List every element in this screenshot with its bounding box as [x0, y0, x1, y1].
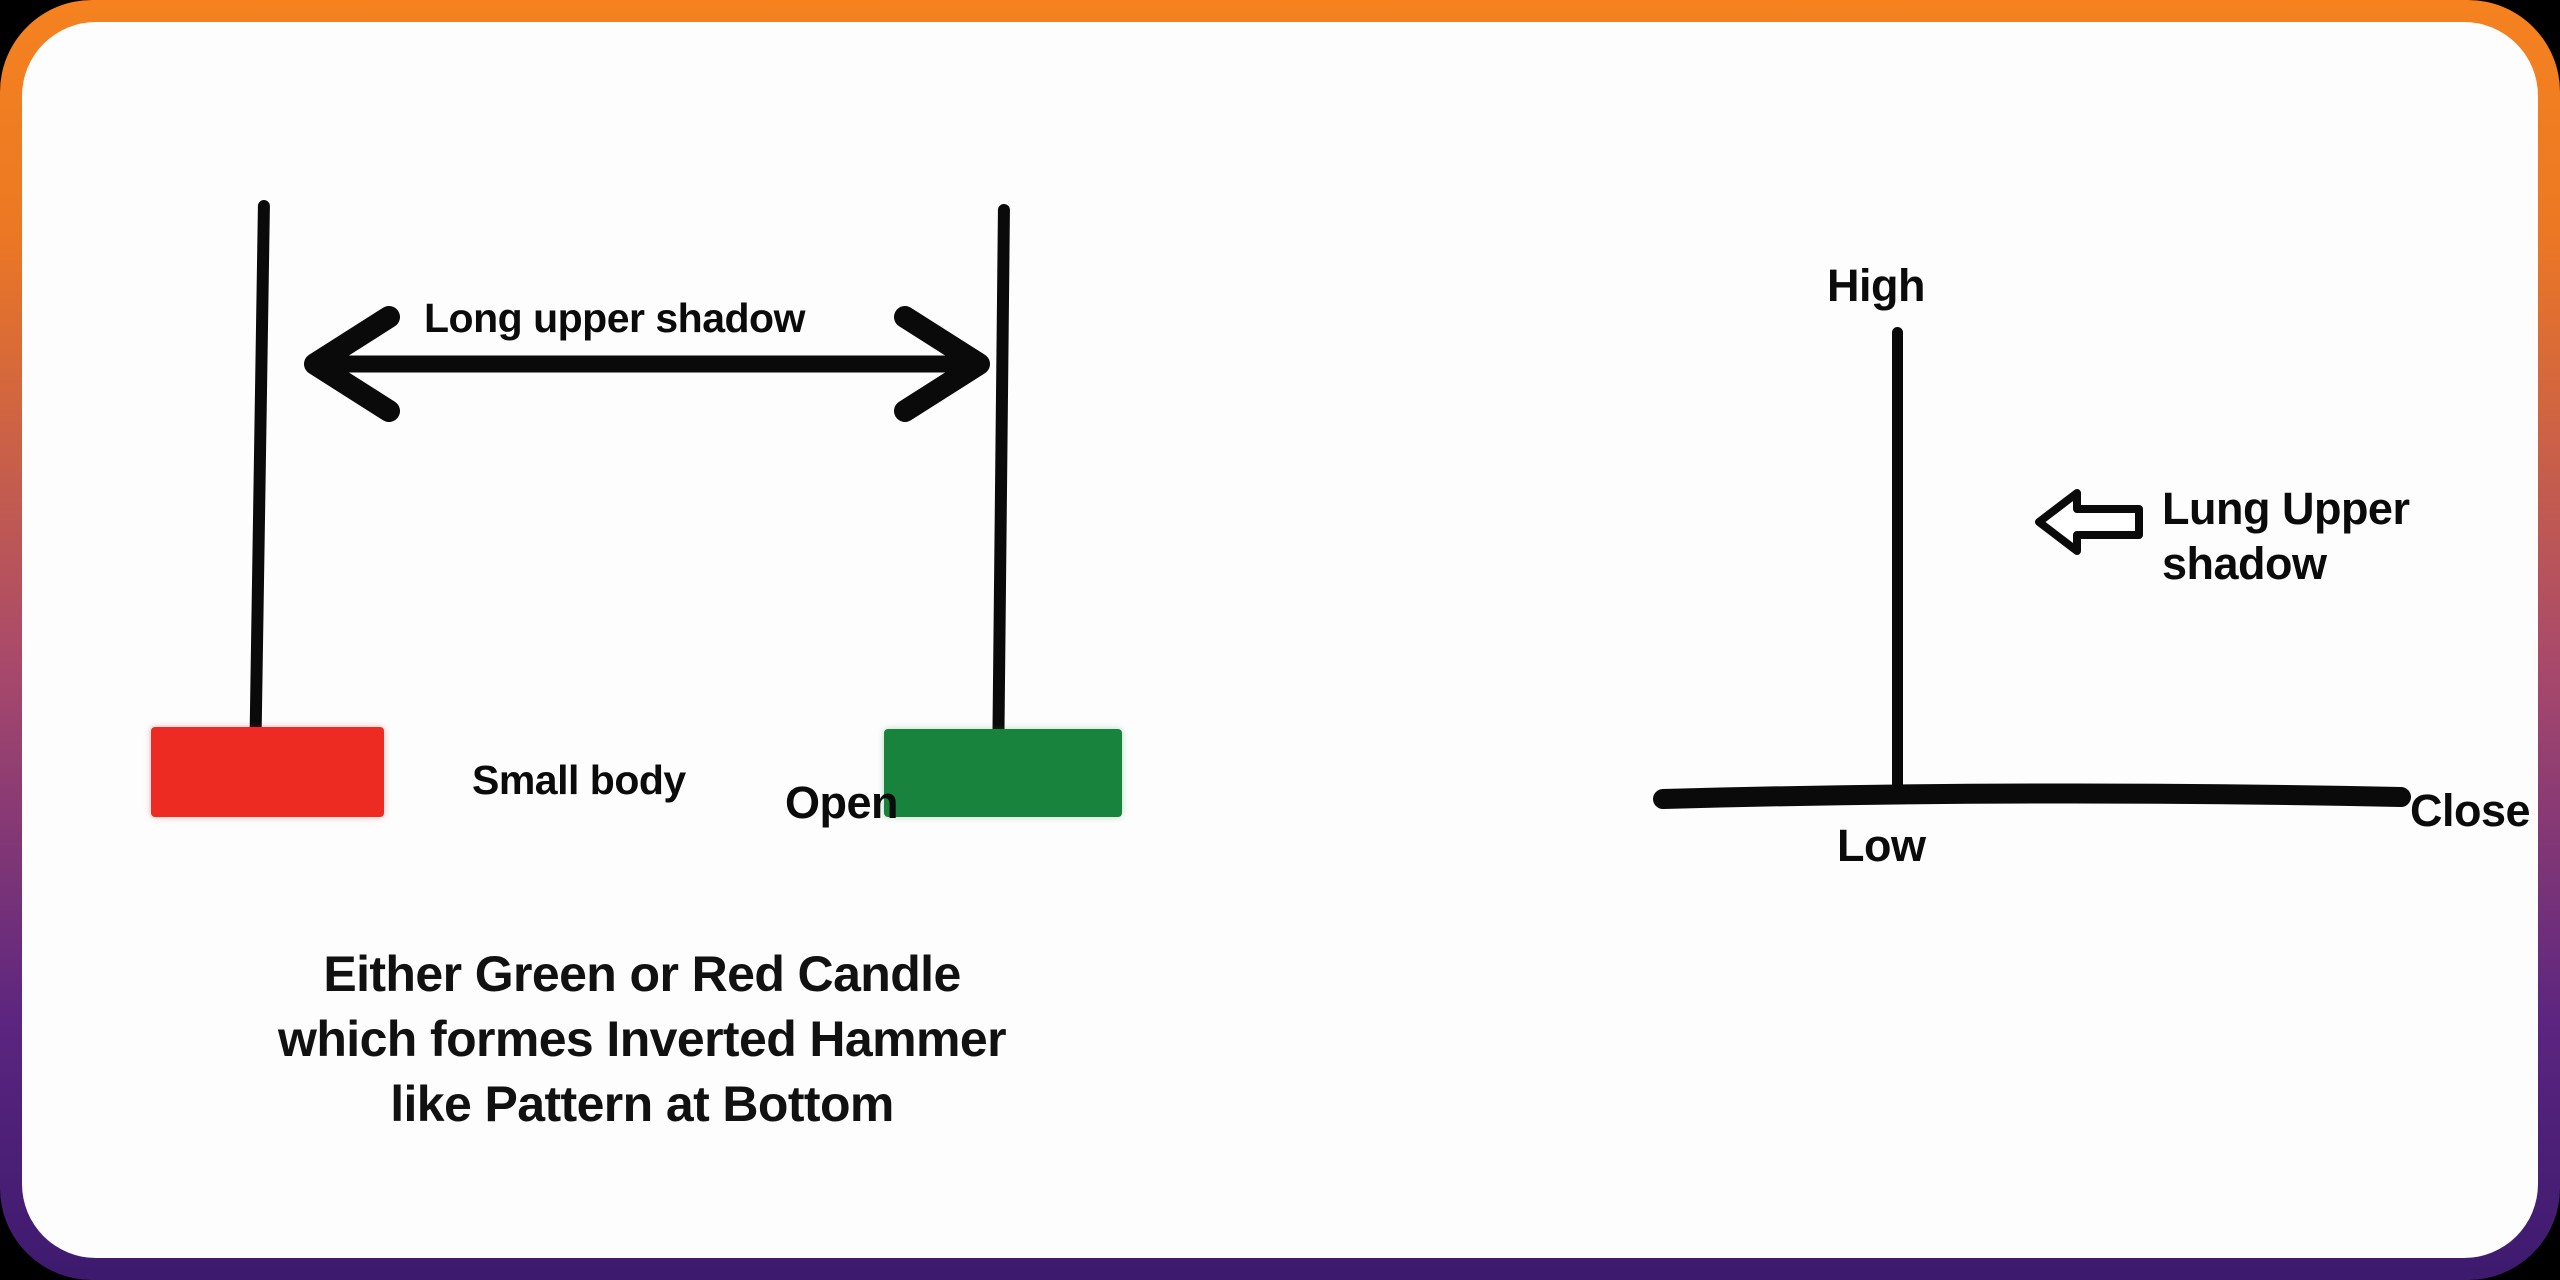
caption-line-3: like Pattern at Bottom	[192, 1072, 1092, 1137]
lung-upper-shadow-label: Lung Upper shadow	[2162, 482, 2482, 592]
low-label: Low	[1837, 820, 1925, 872]
right-diagram: High Low Open Close Lung Upper shadow	[1272, 22, 2538, 1258]
lung-upper-shadow-arrow-icon	[2035, 487, 2143, 557]
close-label: Close	[2410, 785, 2530, 837]
red-candle-body	[151, 727, 384, 817]
left-diagram: Long upper shadow Small body Either Gree…	[22, 22, 1272, 1258]
diagram-canvas: Long upper shadow Small body Either Gree…	[22, 22, 2538, 1258]
small-body-label: Small body	[472, 757, 686, 804]
ohlc-horizontal-bar	[1652, 777, 2412, 817]
left-diagram-caption: Either Green or Red Candle which formes …	[192, 942, 1092, 1137]
green-candle-wick	[992, 204, 1010, 740]
high-label: High	[1827, 260, 1925, 312]
caption-line-1: Either Green or Red Candle	[192, 942, 1092, 1007]
open-label: Open	[785, 777, 898, 829]
caption-line-2: which formes Inverted Hammer	[192, 1007, 1092, 1072]
long-upper-shadow-label: Long upper shadow	[424, 295, 805, 342]
ohlc-vertical-bar	[1892, 327, 1903, 802]
outer-frame: Long upper shadow Small body Either Gree…	[0, 0, 2560, 1280]
green-candle-body	[884, 729, 1122, 817]
red-candle-wick	[249, 200, 270, 745]
